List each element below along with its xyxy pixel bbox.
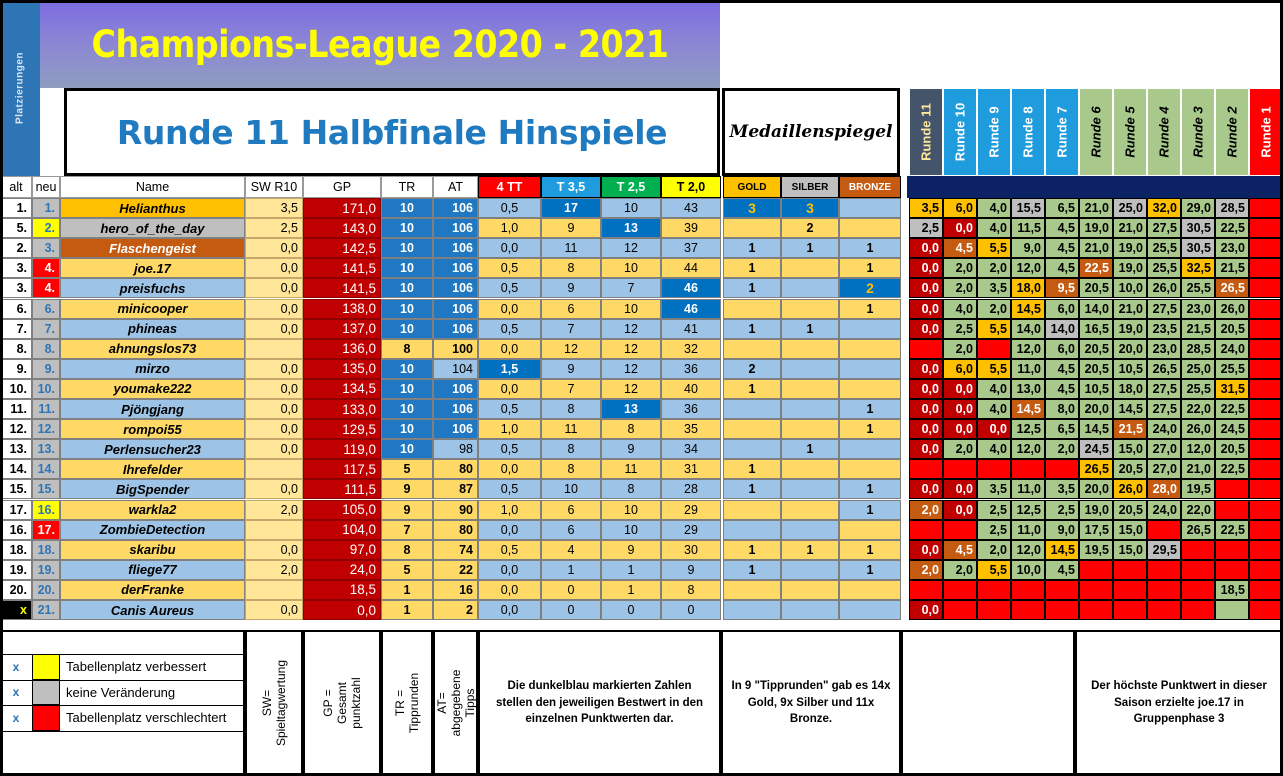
- round-cell: [1249, 580, 1283, 600]
- round-cell: 23,5: [1147, 319, 1181, 339]
- round-cell: [943, 580, 977, 600]
- round-cell: 12,0: [1011, 339, 1045, 359]
- cell-gp: 104,0: [303, 520, 381, 540]
- round-cell: 4,0: [977, 379, 1011, 399]
- cell-gp: 135,0: [303, 359, 381, 379]
- legend-label-0: Tabellenplatz verbessert: [62, 654, 248, 680]
- round-cell: [1147, 560, 1181, 580]
- cell-t35: 9: [541, 218, 601, 238]
- spreadsheet-page: Platzierungen Champions-League 2020 - 20…: [0, 0, 1283, 776]
- cell-neu: 13.: [32, 439, 60, 459]
- cell-gp: 171,0: [303, 198, 381, 218]
- cell-gp: 0,0: [303, 600, 381, 620]
- round-cell: [977, 580, 1011, 600]
- round-cell: [1215, 479, 1249, 499]
- round-cell: 22,0: [1181, 399, 1215, 419]
- cell-alt: 3.: [0, 258, 32, 278]
- round-cell: 14,5: [1113, 399, 1147, 419]
- round-cell: 15,5: [1011, 198, 1045, 218]
- cell-gold: 1: [723, 560, 781, 580]
- round-cell: 20,5: [1113, 459, 1147, 479]
- abbrev-label-text: TR = Tipprunden: [393, 673, 421, 733]
- cell-gp: 136,0: [303, 339, 381, 359]
- round-cell: 0,0: [943, 399, 977, 419]
- legend-divider-2: [0, 731, 245, 732]
- round-cell: [909, 339, 943, 359]
- cell-t4: 0,0: [478, 238, 541, 258]
- round-header-10: Runde 2: [1215, 88, 1249, 176]
- column-header-alt: alt: [0, 176, 32, 198]
- column-header-gold: GOLD: [723, 176, 781, 198]
- cell-alt: 10.: [0, 379, 32, 399]
- round-cell: 11,0: [1011, 479, 1045, 499]
- round-cell: [1249, 479, 1283, 499]
- cell-tr: 10: [381, 359, 433, 379]
- cell-neu: 11.: [32, 399, 60, 419]
- round-cell: 0,0: [909, 359, 943, 379]
- round-cell: [1249, 218, 1283, 238]
- cell-tr: 10: [381, 198, 433, 218]
- cell-t20: 44: [661, 258, 721, 278]
- medal-table-title-text: Medaillenspiegel: [730, 122, 893, 142]
- cell-at: 106: [433, 379, 478, 399]
- round-cell: [1249, 379, 1283, 399]
- cell-t4: 0,5: [478, 439, 541, 459]
- cell-t25: 12: [601, 359, 661, 379]
- legend-label-2: Tabellenplatz verschlechtert: [62, 705, 248, 731]
- cell-silber: [781, 600, 839, 620]
- round-cell: 0,0: [909, 479, 943, 499]
- round-cell: 21,0: [1181, 459, 1215, 479]
- legend-divider-top: [0, 654, 245, 655]
- round-cell: 25,5: [1147, 238, 1181, 258]
- round-cell: [1147, 520, 1181, 540]
- round-cell: 3,5: [977, 278, 1011, 298]
- cell-bronze: 1: [839, 238, 901, 258]
- round-cell: 23,0: [1147, 339, 1181, 359]
- cell-sw: [245, 580, 303, 600]
- cell-at: 106: [433, 198, 478, 218]
- round-cell: 0,0: [909, 379, 943, 399]
- player-name: skaribu: [60, 540, 245, 560]
- cell-t35: 6: [541, 520, 601, 540]
- cell-neu: 17.: [32, 520, 60, 540]
- cell-tr: 5: [381, 560, 433, 580]
- cell-t25: 9: [601, 540, 661, 560]
- round-cell: 21,0: [1079, 198, 1113, 218]
- cell-gp: 134,5: [303, 379, 381, 399]
- cell-silber: [781, 500, 839, 520]
- round-cell: 23,0: [1215, 238, 1249, 258]
- round-cell: [1045, 459, 1079, 479]
- cell-alt: 11.: [0, 399, 32, 419]
- round-cell: 5,5: [977, 238, 1011, 258]
- cell-sw: 3,5: [245, 198, 303, 218]
- cell-at: 106: [433, 278, 478, 298]
- cell-alt: 17.: [0, 500, 32, 520]
- cell-t4: 0,0: [478, 520, 541, 540]
- abbrev-label-1: GP = Gesamt punktzahl: [303, 630, 381, 776]
- round-cell: 12,0: [1011, 258, 1045, 278]
- cell-t35: 12: [541, 339, 601, 359]
- round-cell: 25,5: [1181, 379, 1215, 399]
- round-cell: 14,5: [1045, 540, 1079, 560]
- round-cell: 15,0: [1113, 520, 1147, 540]
- round-cell: 0,0: [943, 379, 977, 399]
- cell-bronze: 1: [839, 258, 901, 278]
- cell-tr: 9: [381, 500, 433, 520]
- cell-alt: 1.: [0, 198, 32, 218]
- cell-silber: [781, 339, 839, 359]
- cell-t20: 8: [661, 580, 721, 600]
- cell-at: 104: [433, 359, 478, 379]
- cell-sw: [245, 459, 303, 479]
- cell-gp: 97,0: [303, 540, 381, 560]
- round-cell: 2,0: [1045, 439, 1079, 459]
- round-cell: 13,0: [1011, 379, 1045, 399]
- column-header-name: Name: [60, 176, 245, 198]
- cell-gold: [723, 600, 781, 620]
- cell-t4: 0,0: [478, 339, 541, 359]
- round-cell: [1249, 198, 1283, 218]
- cell-gp: 111,5: [303, 479, 381, 499]
- round-cell: 6,0: [1045, 339, 1079, 359]
- cell-gp: 105,0: [303, 500, 381, 520]
- cell-t25: 10: [601, 299, 661, 319]
- cell-t25: 0: [601, 600, 661, 620]
- banner-title: Champions-League 2020 - 2021: [40, 0, 720, 88]
- cell-gp: 119,0: [303, 439, 381, 459]
- cell-neu: 16.: [32, 500, 60, 520]
- cell-t25: 10: [601, 500, 661, 520]
- round-title-text: Runde 11 Halbfinale Hinspiele: [117, 113, 667, 152]
- round-cell: 20,5: [1079, 278, 1113, 298]
- cell-silber: 1: [781, 238, 839, 258]
- cell-bronze: [839, 319, 901, 339]
- round-cell: 4,5: [1045, 218, 1079, 238]
- legend-swatch-0: [32, 654, 60, 680]
- round-cell: 5,5: [977, 319, 1011, 339]
- round-cell: 30,5: [1181, 238, 1215, 258]
- round-cell: 22,5: [1215, 520, 1249, 540]
- round-cell: 26,5: [1079, 459, 1113, 479]
- round-cell: 9,0: [1011, 238, 1045, 258]
- cell-tr: 10: [381, 299, 433, 319]
- cell-bronze: [839, 439, 901, 459]
- round-cell: 26,0: [1215, 299, 1249, 319]
- cell-t4: 0,5: [478, 258, 541, 278]
- round-header-label: Runde 2: [1225, 106, 1240, 157]
- note-best-values: Die dunkelblau markierten Zahlen stellen…: [478, 630, 721, 776]
- cell-t25: 8: [601, 419, 661, 439]
- round-cell: 0,0: [909, 238, 943, 258]
- round-cell: 19,5: [1181, 479, 1215, 499]
- cell-t4: 0,5: [478, 319, 541, 339]
- round-cell: 2,0: [943, 278, 977, 298]
- round-cell: 32,0: [1147, 198, 1181, 218]
- round-cell: [1249, 359, 1283, 379]
- cell-bronze: 1: [839, 540, 901, 560]
- round-cell: 5,5: [977, 359, 1011, 379]
- round-cell: 21,0: [1113, 299, 1147, 319]
- round-cell: 28,0: [1147, 479, 1181, 499]
- round-cell: 4,5: [1045, 560, 1079, 580]
- cell-gp: 143,0: [303, 218, 381, 238]
- round-cell: 15,0: [1113, 540, 1147, 560]
- cell-sw: 0,0: [245, 379, 303, 399]
- cell-t35: 8: [541, 439, 601, 459]
- cell-neu: 12.: [32, 419, 60, 439]
- cell-t4: 1,5: [478, 359, 541, 379]
- round-cell: 20,0: [1079, 479, 1113, 499]
- cell-tr: 10: [381, 439, 433, 459]
- cell-neu: 19.: [32, 560, 60, 580]
- cell-at: 90: [433, 500, 478, 520]
- cell-bronze: 1: [839, 560, 901, 580]
- round-cell: 0,0: [943, 419, 977, 439]
- player-name: Flaschengeist: [60, 238, 245, 258]
- cell-t20: 37: [661, 238, 721, 258]
- cell-bronze: 1: [839, 419, 901, 439]
- column-header-bronze: BRONZE: [839, 176, 901, 198]
- cell-sw: 2,5: [245, 218, 303, 238]
- round-cell: [1113, 560, 1147, 580]
- cell-t4: 0,5: [478, 399, 541, 419]
- round-cell: 21,5: [1113, 419, 1147, 439]
- abbrev-label-2: TR = Tipprunden: [381, 630, 433, 776]
- player-name: minicooper: [60, 299, 245, 319]
- cell-tr: 10: [381, 218, 433, 238]
- round-cell: 2,0: [977, 258, 1011, 278]
- cell-silber: [781, 560, 839, 580]
- round-cell: 4,5: [943, 238, 977, 258]
- round-cell: 21,0: [1079, 238, 1113, 258]
- cell-at: 16: [433, 580, 478, 600]
- round-cell: [1249, 520, 1283, 540]
- round-cell: 26,5: [1147, 359, 1181, 379]
- player-name: Perlensucher23: [60, 439, 245, 459]
- round-cell: 2,0: [909, 500, 943, 520]
- cell-at: 106: [433, 218, 478, 238]
- cell-sw: 0,0: [245, 600, 303, 620]
- legend-label-1: keine Veränderung: [62, 680, 248, 706]
- cell-sw: 0,0: [245, 479, 303, 499]
- round-cell: 18,0: [1113, 379, 1147, 399]
- column-header-gp: GP: [303, 176, 381, 198]
- round-cell: [1249, 339, 1283, 359]
- cell-sw: 0,0: [245, 299, 303, 319]
- round-header-label: Runde 4: [1157, 106, 1172, 157]
- round-cell: 17,5: [1079, 520, 1113, 540]
- round-cell: 2,0: [977, 540, 1011, 560]
- cell-bronze: [839, 600, 901, 620]
- cell-alt: 19.: [0, 560, 32, 580]
- legend-swatch-2: [32, 705, 60, 731]
- round-cell: 2,0: [943, 258, 977, 278]
- title-banner: Champions-League 2020 - 2021: [40, 0, 720, 88]
- cell-t4: 1,0: [478, 218, 541, 238]
- cell-sw: 0,0: [245, 399, 303, 419]
- column-header-t-2-0: T 2,0: [661, 176, 721, 198]
- cell-t35: 7: [541, 319, 601, 339]
- round-cell: 6,0: [943, 198, 977, 218]
- round-cell: [977, 459, 1011, 479]
- abbrev-label-text: SW= Spieltagwertung: [260, 660, 288, 746]
- cell-silber: [781, 399, 839, 419]
- round-header-label: Runde 5: [1123, 106, 1138, 157]
- round-cell: [1181, 580, 1215, 600]
- round-cell: 21,5: [1181, 319, 1215, 339]
- cell-t20: 41: [661, 319, 721, 339]
- cell-t4: 0,0: [478, 459, 541, 479]
- round-cell: [1249, 540, 1283, 560]
- round-cell: 4,5: [1045, 359, 1079, 379]
- round-cell: [1215, 560, 1249, 580]
- cell-at: 98: [433, 439, 478, 459]
- note-empty-box: [901, 630, 1075, 776]
- round-cell: [1147, 580, 1181, 600]
- cell-silber: [781, 278, 839, 298]
- cell-bronze: [839, 339, 901, 359]
- round-cell: 28,5: [1181, 339, 1215, 359]
- cell-silber: [781, 359, 839, 379]
- round-cell: 0,0: [909, 419, 943, 439]
- cell-t20: 30: [661, 540, 721, 560]
- medal-table-title-box: Medaillenspiegel: [722, 88, 900, 176]
- cell-t4: 1,0: [478, 419, 541, 439]
- cell-tr: 1: [381, 580, 433, 600]
- cell-gp: 137,0: [303, 319, 381, 339]
- round-header-4: Runde 8: [1011, 88, 1045, 176]
- round-cell: 0,0: [943, 500, 977, 520]
- cell-t4: 0,0: [478, 600, 541, 620]
- round-cell: 20,5: [1079, 359, 1113, 379]
- round-cell: 19,0: [1113, 319, 1147, 339]
- round-cell: 12,0: [1011, 439, 1045, 459]
- round-cell: 28,5: [1215, 198, 1249, 218]
- round-header-9: Runde 3: [1181, 88, 1215, 176]
- cell-alt: 12.: [0, 419, 32, 439]
- cell-bronze: [839, 198, 901, 218]
- cell-silber: 3: [781, 198, 839, 218]
- cell-alt: 9.: [0, 359, 32, 379]
- column-header-t-2-5: T 2,5: [601, 176, 661, 198]
- cell-t25: 12: [601, 339, 661, 359]
- round-cell: 16,5: [1079, 319, 1113, 339]
- legend-swatch-1: [32, 680, 60, 706]
- cell-at: 80: [433, 520, 478, 540]
- cell-t35: 8: [541, 399, 601, 419]
- cell-sw: 0,0: [245, 419, 303, 439]
- cell-alt: 2.: [0, 238, 32, 258]
- cell-t4: 0,5: [478, 198, 541, 218]
- cell-neu: 6.: [32, 299, 60, 319]
- round-cell: [1079, 600, 1113, 620]
- cell-t35: 4: [541, 540, 601, 560]
- round-cell: [1011, 459, 1045, 479]
- cell-t35: 7: [541, 379, 601, 399]
- cell-alt: 5.: [0, 218, 32, 238]
- cell-bronze: 1: [839, 299, 901, 319]
- round-cell: [1113, 580, 1147, 600]
- cell-at: 106: [433, 238, 478, 258]
- round-cell: 25,5: [1215, 359, 1249, 379]
- cell-gold: [723, 580, 781, 600]
- round-cell: 12,5: [1011, 419, 1045, 439]
- round-cell: 2,0: [943, 560, 977, 580]
- round-cell: 25,0: [1113, 198, 1147, 218]
- cell-sw: [245, 339, 303, 359]
- round-header-label: Runde 6: [1089, 106, 1104, 157]
- round-cell: 10,0: [1113, 278, 1147, 298]
- cell-gold: [723, 419, 781, 439]
- round-cell: 5,5: [977, 560, 1011, 580]
- cell-neu: 10.: [32, 379, 60, 399]
- cell-t25: 8: [601, 479, 661, 499]
- cell-bronze: 1: [839, 500, 901, 520]
- round-cell: 20,5: [1079, 339, 1113, 359]
- round-cell: 19,0: [1079, 500, 1113, 520]
- cell-gp: 18,5: [303, 580, 381, 600]
- round-header-3: Runde 9: [977, 88, 1011, 176]
- cell-at: 22: [433, 560, 478, 580]
- cell-t25: 12: [601, 379, 661, 399]
- column-header-neu: neu: [32, 176, 60, 198]
- cell-gold: 1: [723, 238, 781, 258]
- cell-neu: 14.: [32, 459, 60, 479]
- round-header-8: Runde 4: [1147, 88, 1181, 176]
- cell-sw: 2,0: [245, 560, 303, 580]
- round-cell: 19,0: [1079, 218, 1113, 238]
- cell-t20: 29: [661, 500, 721, 520]
- cell-sw: 0,0: [245, 319, 303, 339]
- round-cell: 27,0: [1147, 459, 1181, 479]
- cell-silber: 1: [781, 540, 839, 560]
- round-cell: 26,5: [1215, 278, 1249, 298]
- round-cell: 14,0: [1045, 319, 1079, 339]
- round-cell: 12,0: [1181, 439, 1215, 459]
- round-cell: 19,5: [1079, 540, 1113, 560]
- cell-gold: 1: [723, 459, 781, 479]
- round-cell: [1079, 580, 1113, 600]
- cell-t25: 10: [601, 258, 661, 278]
- cell-silber: [781, 520, 839, 540]
- round-header-label: Runde 9: [987, 106, 1002, 157]
- round-cell: [1147, 600, 1181, 620]
- legend-marker-1: x: [0, 680, 32, 706]
- cell-neu: 21.: [32, 600, 60, 620]
- round-cell: 18,0: [1011, 278, 1045, 298]
- round-cell: 24,0: [1147, 500, 1181, 520]
- round-cell: [977, 339, 1011, 359]
- round-cell: [977, 600, 1011, 620]
- cell-silber: [781, 580, 839, 600]
- round-cell: [1011, 600, 1045, 620]
- round-cell: 14,5: [1011, 299, 1045, 319]
- cell-silber: [781, 459, 839, 479]
- cell-silber: [781, 299, 839, 319]
- round-cell: [1249, 319, 1283, 339]
- round-cell: [1215, 500, 1249, 520]
- round-cell: 3,5: [909, 198, 943, 218]
- cell-t25: 9: [601, 439, 661, 459]
- round-cell: 24,0: [1147, 419, 1181, 439]
- abbrev-label-0: SW= Spieltagwertung: [245, 630, 303, 776]
- cell-t4: 0,0: [478, 299, 541, 319]
- round-cell: 2,0: [943, 439, 977, 459]
- round-cell: 0,0: [909, 600, 943, 620]
- cell-t25: 1: [601, 580, 661, 600]
